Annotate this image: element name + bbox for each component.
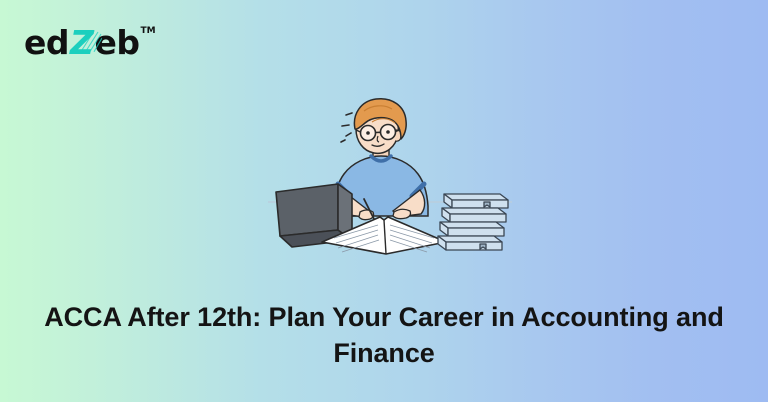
logo-wordmark: edZ eb bbox=[24, 26, 139, 59]
book-2-face bbox=[450, 214, 506, 222]
stack-of-books bbox=[438, 194, 508, 250]
motion-lines bbox=[341, 113, 352, 142]
tablet-screen bbox=[276, 184, 338, 236]
logo-text-ed: ed bbox=[24, 26, 69, 59]
trademark-symbol: TM bbox=[140, 27, 155, 36]
book-3-face bbox=[448, 228, 504, 236]
eye-right bbox=[386, 130, 390, 134]
book-1-top bbox=[444, 194, 508, 200]
book-4-top bbox=[438, 236, 502, 242]
edzeb-logo[interactable]: edZ eb TM bbox=[24, 26, 156, 59]
logo-accent-letter-z: Z bbox=[69, 26, 94, 59]
logo-text-eb: eb bbox=[94, 26, 139, 59]
banner-graphic: edZ eb TM bbox=[0, 0, 768, 402]
hero-illustration bbox=[268, 84, 512, 256]
book-1-face bbox=[452, 200, 508, 208]
book-3-top bbox=[440, 222, 504, 228]
page-title: ACCA After 12th: Plan Your Career in Acc… bbox=[44, 300, 724, 371]
student-studying-illustration bbox=[268, 84, 512, 256]
hand-right bbox=[393, 209, 411, 218]
eye-left bbox=[366, 131, 370, 135]
book-4-face bbox=[446, 242, 502, 250]
book-2-top bbox=[442, 208, 506, 214]
